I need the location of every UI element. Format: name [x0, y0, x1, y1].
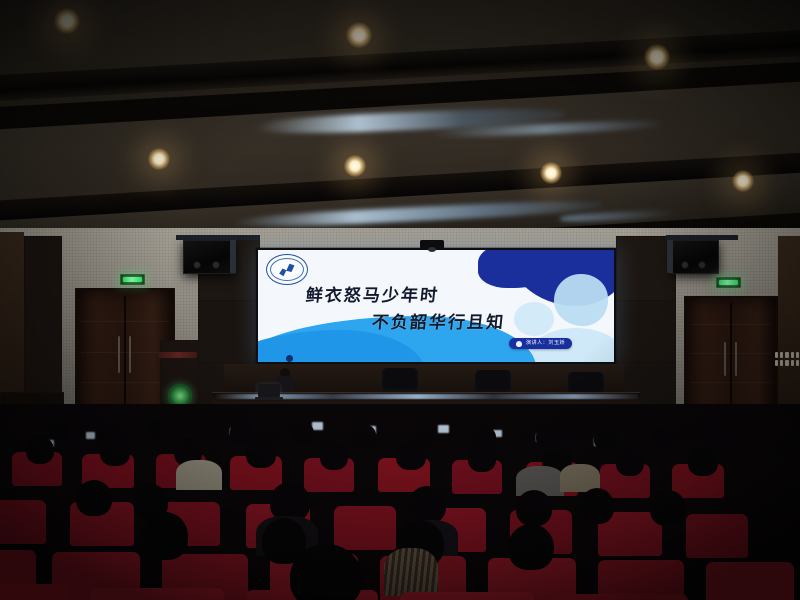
ceiling-downlight — [344, 155, 366, 177]
audience-head — [650, 490, 686, 526]
audience-head — [688, 448, 718, 476]
ceiling-downlight — [346, 22, 372, 48]
slide-lightblue-blob-2 — [514, 302, 554, 336]
speaker-rail-left — [176, 235, 260, 240]
audience-head — [352, 424, 376, 446]
theater-seat[interactable] — [686, 514, 748, 558]
audience-head — [230, 420, 254, 444]
audience-head — [508, 524, 554, 570]
device-screen-glow — [312, 422, 323, 430]
theater-seat[interactable] — [706, 562, 794, 600]
slide-title-line-1: 鲜衣怒马少年时 — [305, 281, 441, 306]
device-screen-glow — [86, 432, 95, 439]
stage-chair — [382, 368, 418, 394]
audience-head — [536, 426, 558, 448]
theater-seat[interactable] — [334, 506, 396, 550]
audience-head — [146, 420, 168, 442]
device-screen-glow — [438, 425, 449, 433]
speaker-left — [183, 240, 235, 274]
slide-lightblue-blob-1 — [554, 274, 608, 326]
wall-strip-lights-left — [159, 352, 197, 358]
presenter-laptop — [258, 384, 280, 397]
acoustic-panel-left-d — [198, 300, 260, 364]
audience-head — [26, 436, 54, 464]
presenter-badge-label: 演讲人：刘玉娇 — [526, 341, 565, 346]
theater-seat[interactable] — [556, 594, 688, 600]
audience-head — [594, 428, 618, 450]
ceiling-downlight — [148, 148, 170, 170]
ceiling-downlight — [732, 170, 754, 192]
ceiling-downlight — [540, 162, 562, 184]
audience-head — [142, 512, 188, 560]
audience-head — [408, 486, 446, 524]
audience-head — [320, 442, 348, 470]
audience-shoulder-striped — [384, 548, 438, 596]
presenter-badge: 演讲人：刘玉娇 — [509, 338, 572, 349]
person-icon — [516, 341, 522, 347]
projection-screen: 鲜衣怒马少年时 不负韶华行且知 演讲人：刘玉娇 — [256, 248, 616, 364]
audience-head — [76, 480, 112, 516]
exit-sign-left — [120, 274, 145, 285]
auditorium-photo: 鲜衣怒马少年时 不负韶华行且知 演讲人：刘玉娇 — [0, 0, 800, 600]
ceiling-downlight — [644, 44, 670, 70]
ceiling-downlight — [54, 8, 80, 34]
slide-title-line-2: 不负韶华行且知 — [371, 308, 507, 333]
audience-head — [48, 418, 70, 440]
wall-wood-column-right — [778, 236, 800, 428]
audience-head — [246, 440, 276, 468]
audience-head — [100, 438, 130, 466]
audience-head — [516, 490, 552, 526]
ventilation-grille-right — [775, 352, 799, 366]
theater-seat[interactable] — [0, 584, 70, 600]
slide-accent-dot — [286, 355, 293, 362]
audience-shoulder-light-coat — [176, 460, 222, 490]
speaker-rail-right — [666, 235, 738, 240]
projector-lens — [428, 247, 436, 252]
acoustic-panel-right-b — [616, 300, 676, 364]
audience-head — [292, 422, 314, 444]
audience-head-foreground — [290, 544, 362, 600]
exit-sign-right — [716, 277, 741, 288]
audience-head — [652, 428, 674, 450]
theater-seat[interactable] — [90, 588, 224, 600]
theater-seat[interactable] — [0, 500, 46, 544]
audience-head — [468, 444, 496, 472]
audience-head — [580, 488, 614, 524]
theater-seat[interactable] — [400, 592, 534, 600]
audience-area — [0, 404, 800, 600]
audience-head — [396, 442, 426, 470]
university-seal-logo — [266, 254, 308, 285]
audience-head — [616, 448, 644, 476]
speaker-right — [671, 240, 719, 274]
